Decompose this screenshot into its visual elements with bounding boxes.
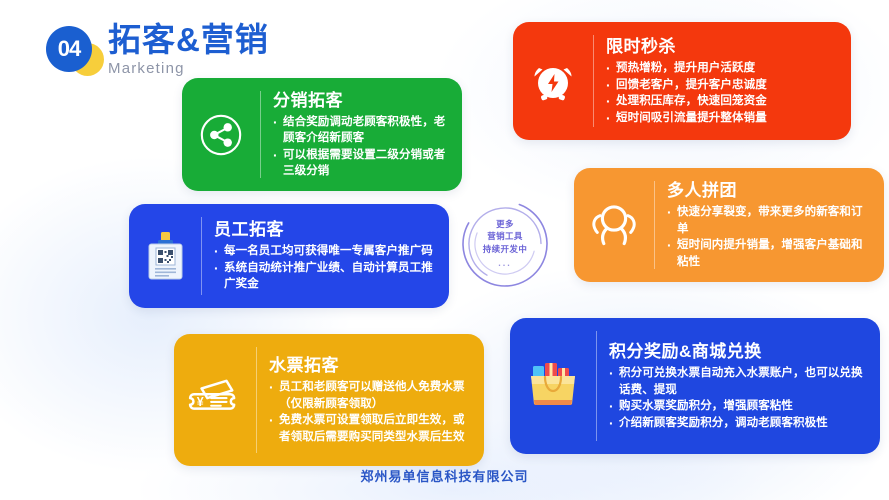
- card-content: 积分奖励&商城兑换 积分可兑换水票自动充入水票账户，也可以兑换话费、提现 购买水…: [597, 341, 880, 431]
- feature-card-jifen[interactable]: 积分奖励&商城兑换 积分可兑换水票自动充入水票账户，也可以兑换话费、提现 购买水…: [510, 318, 880, 454]
- card-bullet-list: 结合奖励调动老顾客积极性，老顾客介绍新顾客 可以根据需要设置二级分销或者三级分销: [273, 114, 452, 180]
- card-title: 多人拼团: [667, 180, 874, 201]
- header-titles: 拓客&营销 Marketing: [108, 22, 269, 77]
- card-title: 积分奖励&商城兑换: [609, 341, 870, 362]
- alarm-clock-flash-icon: [513, 57, 593, 105]
- card-title: 水票拓客: [269, 355, 474, 376]
- card-bullet-list: 预热增粉，提升用户活跃度 回馈老客户，提升客户忠诚度 处理积压库存，快速回笼资金…: [606, 60, 841, 126]
- center-line-2: 营销工具: [487, 230, 523, 242]
- slide-header: 04 拓客&营销 Marketing: [46, 22, 269, 78]
- card-content: 员工拓客 每一名员工均可获得唯一专属客户推广码 系统自动统计推广业绩、自动计算员…: [202, 219, 449, 293]
- feature-card-pintuan[interactable]: 多人拼团 快速分享裂变，带来更多的新客和订单 短时间内提升销量，增强客户基础和粘…: [574, 168, 884, 282]
- center-ellipsis: ...: [498, 257, 512, 270]
- center-text: 更多 营销工具 持续开发中 ...: [459, 198, 551, 290]
- card-bullet-list: 每一名员工均可获得唯一专属客户推广码 系统自动统计推广业绩、自动计算员工推广奖金: [214, 243, 439, 292]
- card-bullet: 员工和老顾客可以赠送他人免费水票（仅限新顾客领取）: [269, 379, 474, 412]
- card-bullet: 系统自动统计推广业绩、自动计算员工推广奖金: [214, 260, 439, 293]
- section-number-badge: 04: [46, 26, 98, 78]
- card-content: 分销拓客 结合奖励调动老顾客积极性，老顾客介绍新顾客 可以根据需要设置二级分销或…: [261, 90, 462, 180]
- gift-shopping-bag-icon: [510, 360, 596, 412]
- card-bullet: 每一名员工均可获得唯一专属客户推广码: [214, 243, 439, 259]
- card-bullet: 购买水票奖励积分，增强顾客粘性: [609, 398, 870, 414]
- card-title: 分销拓客: [273, 90, 452, 111]
- card-content: 多人拼团 快速分享裂变，带来更多的新客和订单 短时间内提升销量，增强客户基础和粘…: [655, 180, 884, 270]
- card-bullet-list: 快速分享裂变，带来更多的新客和订单 短时间内提升销量，增强客户基础和粘性: [667, 204, 874, 270]
- group-people-icon: [574, 202, 654, 248]
- card-bullet: 短时间内提升销量，增强客户基础和粘性: [667, 237, 874, 270]
- card-bullet: 免费水票可设置领取后立即生效，或者领取后需要购买同类型水票后生效: [269, 412, 474, 445]
- center-line-3: 持续开发中: [483, 243, 528, 255]
- section-number: 04: [46, 26, 92, 72]
- card-bullet-list: 积分可兑换水票自动充入水票账户，也可以兑换话费、提现 购买水票奖励积分，增强顾客…: [609, 365, 870, 431]
- card-bullet: 短时间吸引流量提升整体销量: [606, 110, 841, 126]
- card-bullet-list: 员工和老顾客可以赠送他人免费水票（仅限新顾客领取） 免费水票可设置领取后立即生效…: [269, 379, 474, 445]
- card-bullet: 快速分享裂变，带来更多的新客和订单: [667, 204, 874, 237]
- ticket-yuan-icon: ¥: [174, 377, 256, 423]
- page-title: 拓客&营销: [108, 22, 269, 59]
- card-content: 限时秒杀 预热增粉，提升用户活跃度 回馈老客户，提升客户忠诚度 处理积压库存，快…: [594, 36, 851, 126]
- svg-text:¥: ¥: [197, 395, 204, 409]
- slide-canvas: 04 拓客&营销 Marketing 分销拓客 结合奖励调动老顾客积极性，老顾客…: [0, 0, 889, 500]
- card-title: 员工拓客: [214, 219, 439, 240]
- card-bullet: 介绍新顾客奖励积分，调动老顾客积极性: [609, 415, 870, 431]
- card-bullet: 结合奖励调动老顾客积极性，老顾客介绍新顾客: [273, 114, 452, 147]
- id-badge-qr-icon: [129, 230, 201, 282]
- center-line-1: 更多: [496, 218, 514, 230]
- card-bullet: 可以根据需要设置二级分销或者三级分销: [273, 147, 452, 180]
- card-title: 限时秒杀: [606, 36, 841, 57]
- footer-company-name: 郑州易单信息科技有限公司: [0, 466, 889, 485]
- card-bullet: 积分可兑换水票自动充入水票账户，也可以兑换话费、提现: [609, 365, 870, 398]
- feature-card-shuipiao[interactable]: ¥ 水票拓客 员工和老顾客可以赠送他人免费水票（仅限新顾客领取） 免费水票可设置…: [174, 334, 484, 466]
- feature-card-fenxiao[interactable]: 分销拓客 结合奖励调动老顾客积极性，老顾客介绍新顾客 可以根据需要设置二级分销或…: [182, 78, 462, 191]
- card-bullet: 回馈老客户，提升客户忠诚度: [606, 77, 841, 93]
- feature-card-yuangong[interactable]: 员工拓客 每一名员工均可获得唯一专属客户推广码 系统自动统计推广业绩、自动计算员…: [129, 204, 449, 308]
- feature-card-miaosha[interactable]: 限时秒杀 预热增粉，提升用户活跃度 回馈老客户，提升客户忠诚度 处理积压库存，快…: [513, 22, 851, 140]
- card-bullet: 预热增粉，提升用户活跃度: [606, 60, 841, 76]
- share-network-icon: [182, 112, 260, 158]
- card-content: 水票拓客 员工和老顾客可以赠送他人免费水票（仅限新顾客领取） 免费水票可设置领取…: [257, 355, 484, 445]
- card-bullet: 处理积压库存，快速回笼资金: [606, 93, 841, 109]
- center-more-tools-badge: 更多 营销工具 持续开发中 ...: [459, 198, 551, 290]
- page-subtitle: Marketing: [108, 60, 269, 77]
